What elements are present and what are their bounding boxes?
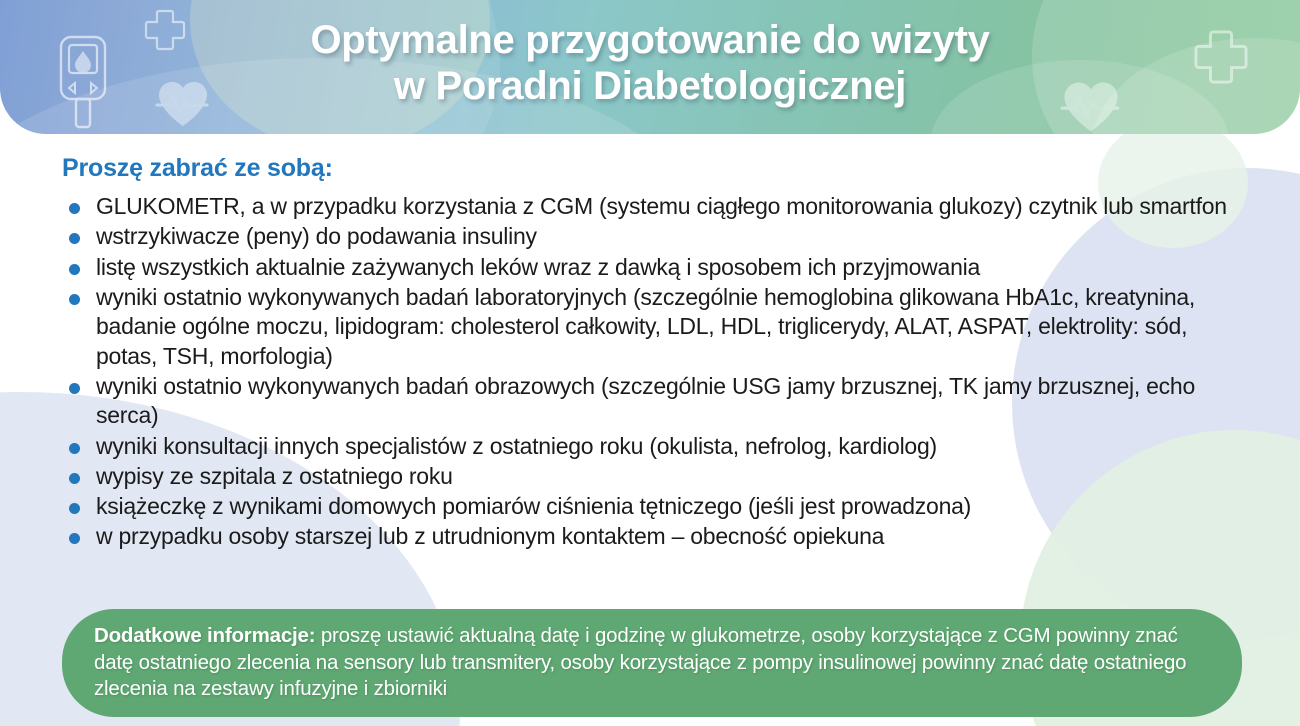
list-item: wstrzykiwacze (peny) do podawania insuli… xyxy=(62,222,1254,251)
list-item: wyniki konsultacji innych specjalistów z… xyxy=(62,432,1254,461)
list-item: listę wszystkich aktualnie zażywanych le… xyxy=(62,253,1254,282)
list-item: GLUKOMETR, a w przypadku korzystania z C… xyxy=(62,192,1254,221)
header-banner: Optymalne przygotowanie do wizyty w Pora… xyxy=(0,0,1300,134)
list-item: książeczkę z wynikami domowych pomiarów … xyxy=(62,492,1254,521)
checklist: GLUKOMETR, a w przypadku korzystania z C… xyxy=(62,192,1254,552)
list-item: w przypadku osoby starszej lub z utrudni… xyxy=(62,522,1254,551)
poster-root: Optymalne przygotowanie do wizyty w Pora… xyxy=(0,0,1300,726)
list-item: wyniki ostatnio wykonywanych badań obraz… xyxy=(62,372,1254,431)
additional-info-label: Dodatkowe informacje: xyxy=(94,624,315,647)
list-item: wypisy ze szpitala z ostatniego roku xyxy=(62,462,1254,491)
page-title-line-1: Optymalne przygotowanie do wizyty xyxy=(0,17,1300,63)
section-heading: Proszę zabrać ze sobą: xyxy=(62,154,1254,183)
page-title: Optymalne przygotowanie do wizyty w Pora… xyxy=(0,0,1300,110)
additional-info-note: Dodatkowe informacje: proszę ustawić akt… xyxy=(62,609,1242,717)
page-title-line-2: w Poradni Diabetologicznej xyxy=(0,63,1300,109)
list-item: wyniki ostatnio wykonywanych badań labor… xyxy=(62,283,1254,371)
